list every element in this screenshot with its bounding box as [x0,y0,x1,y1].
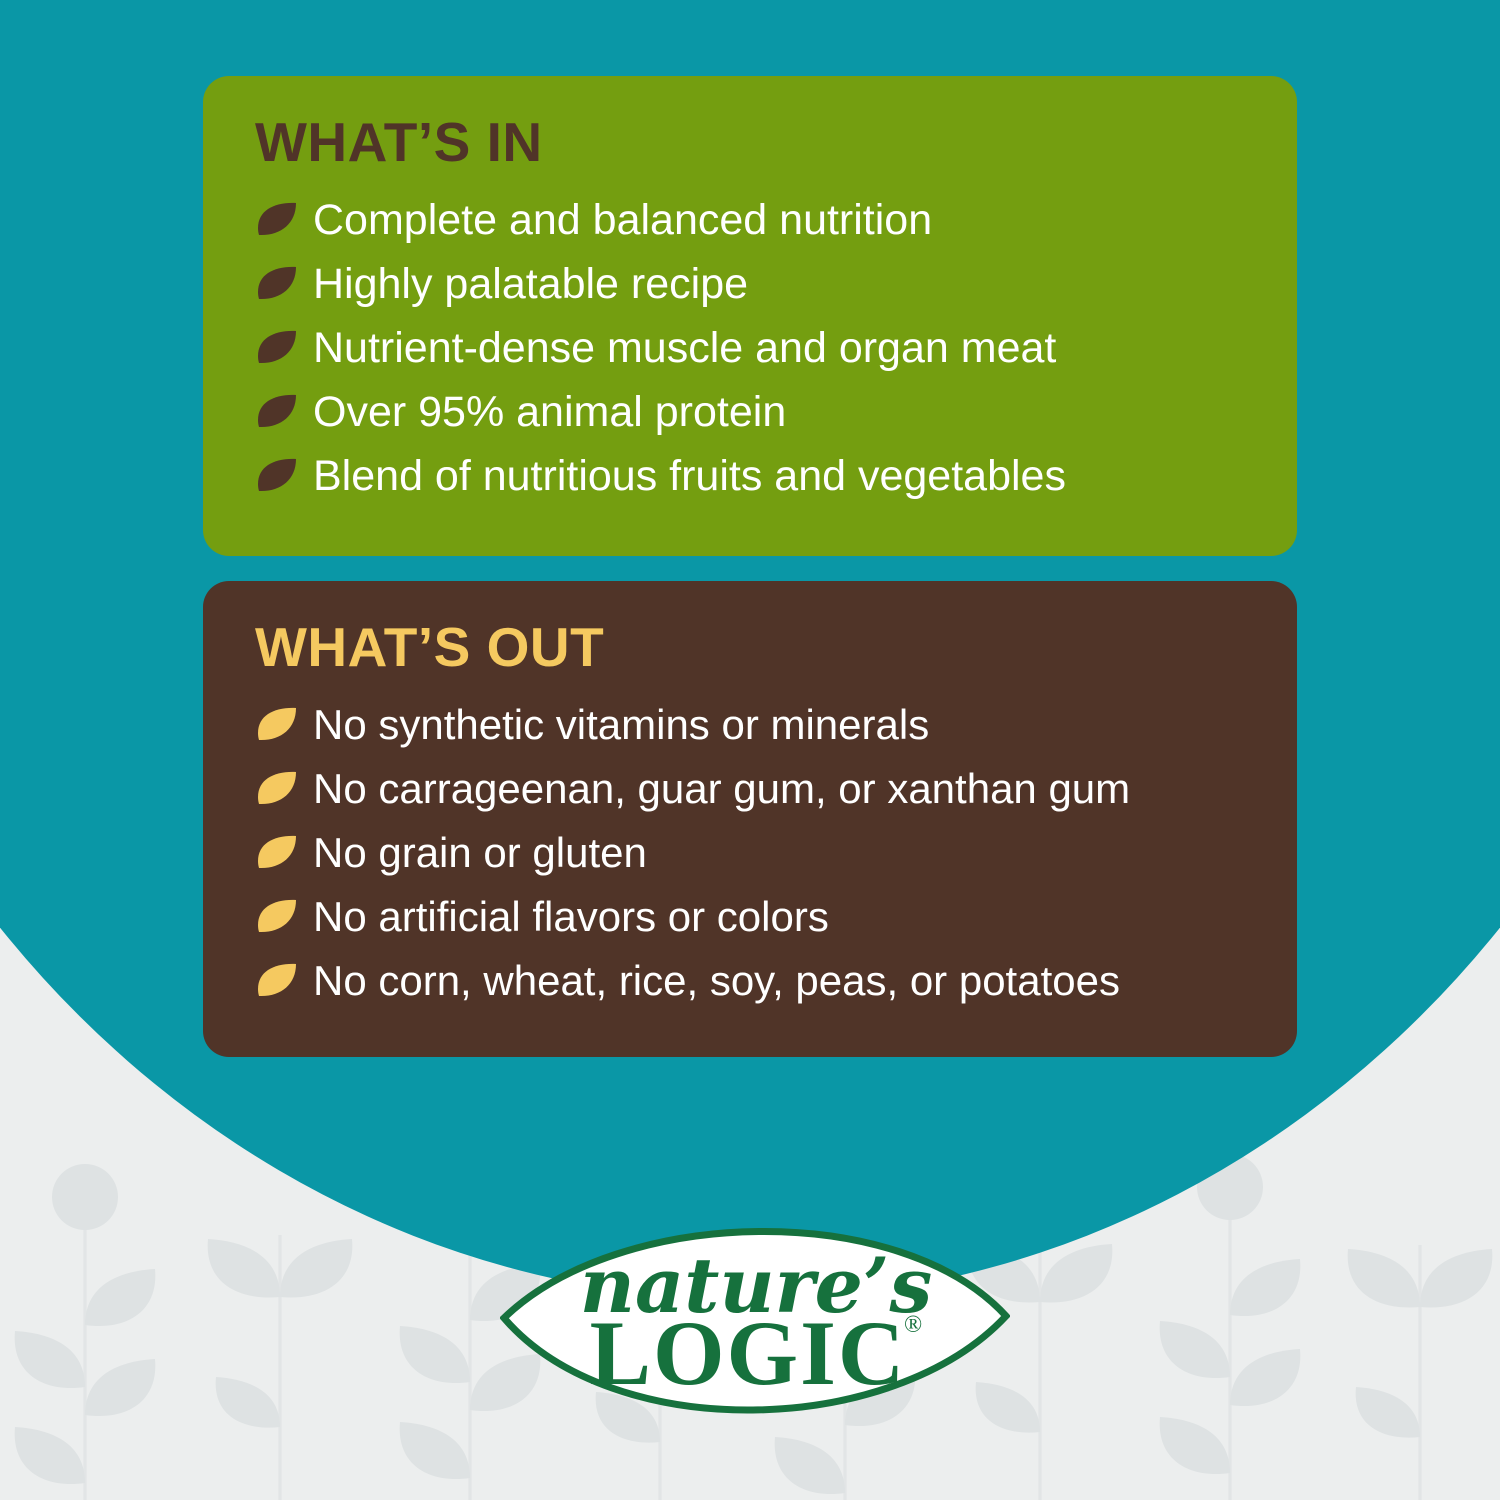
list-item: No corn, wheat, rice, soy, peas, or pota… [255,955,1251,1007]
list-item: Over 95% animal protein [255,386,1251,438]
leaf-icon [255,767,299,811]
list-item-label: No grain or gluten [313,830,647,875]
list-item: Complete and balanced nutrition [255,194,1251,246]
leaf-icon [255,959,299,1003]
list-item-label: Blend of nutritious fruits and vegetable… [313,453,1066,499]
leaf-icon [255,454,299,498]
list-item-label: Nutrient-dense muscle and organ meat [313,325,1056,371]
whats-in-card: WHAT’S IN Complete and balanced nutritio… [203,76,1297,556]
list-item: No artificial flavors or colors [255,891,1251,943]
whats-out-list: No synthetic vitamins or minerals No car… [255,699,1251,1007]
list-item: No grain or gluten [255,827,1251,879]
list-item-label: No carrageenan, guar gum, or xanthan gum [313,766,1130,811]
logo-wordmark: LOGIC [590,1302,907,1404]
leaf-icon [255,831,299,875]
registered-trademark-icon: ® [904,1312,922,1338]
natures-logic-logo: nature’s LOGIC ® [500,1200,1010,1450]
leaf-icon [255,390,299,434]
list-item-label: No synthetic vitamins or minerals [313,702,929,747]
leaf-icon [255,198,299,242]
list-item-label: No corn, wheat, rice, soy, peas, or pota… [313,958,1120,1003]
whats-in-list: Complete and balanced nutrition Highly p… [255,194,1251,502]
whats-in-title: WHAT’S IN [255,114,1251,172]
whats-out-card: WHAT’S OUT No synthetic vitamins or mine… [203,581,1297,1057]
leaf-icon [255,895,299,939]
leaf-icon [255,262,299,306]
list-item: No carrageenan, guar gum, or xanthan gum [255,763,1251,815]
list-item-label: Complete and balanced nutrition [313,197,932,243]
list-item-label: No artificial flavors or colors [313,894,829,939]
list-item: No synthetic vitamins or minerals [255,699,1251,751]
list-item-label: Over 95% animal protein [313,389,786,435]
leaf-icon [255,326,299,370]
list-item: Highly palatable recipe [255,258,1251,310]
promo-graphic: WHAT’S IN Complete and balanced nutritio… [0,0,1500,1500]
leaf-icon [255,703,299,747]
whats-out-title: WHAT’S OUT [255,619,1251,677]
list-item-label: Highly palatable recipe [313,261,748,307]
list-item: Nutrient-dense muscle and organ meat [255,322,1251,374]
list-item: Blend of nutritious fruits and vegetable… [255,450,1251,502]
